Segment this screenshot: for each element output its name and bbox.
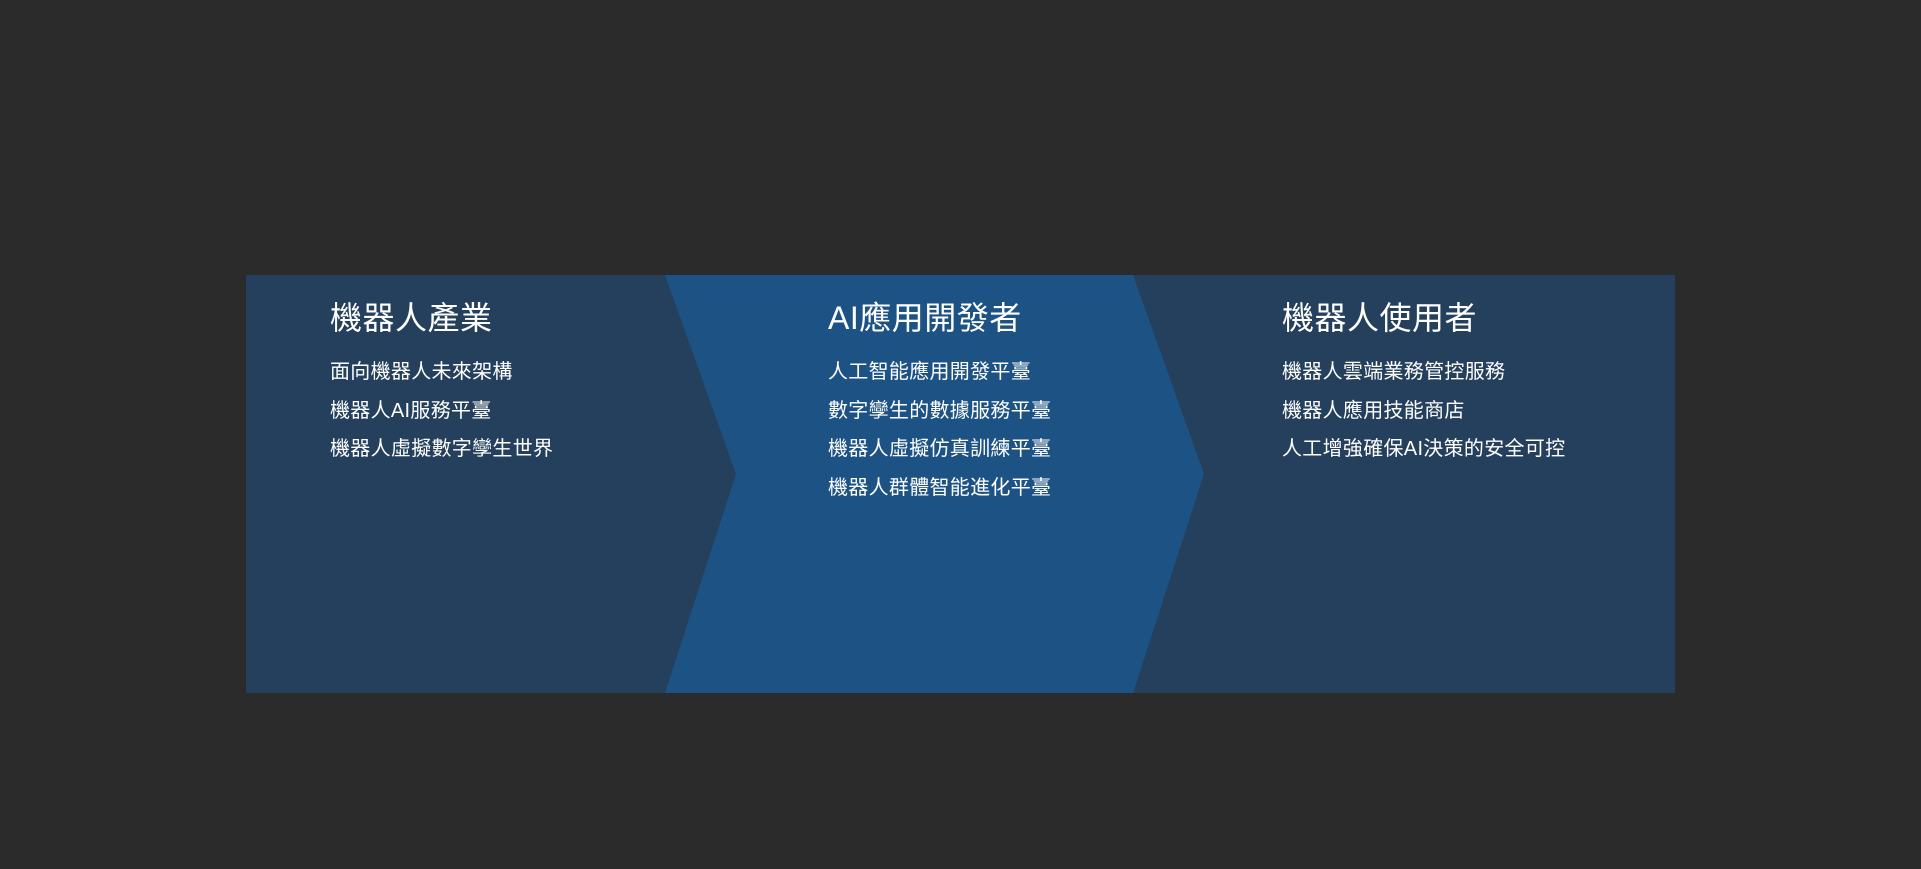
segment-item-list-robot-user: 機器人雲端業務管控服務 機器人應用技能商店 人工增強確保AI決策的安全可控 (1282, 356, 1565, 472)
list-item: 人工智能應用開發平臺 (828, 356, 1051, 388)
list-item: 機器人AI服務平臺 (330, 395, 553, 427)
segment-title-ai-app-developer: AI應用開發者 (828, 296, 1022, 340)
list-item: 機器人虛擬仿真訓練平臺 (828, 433, 1051, 465)
list-item: 機器人群體智能進化平臺 (828, 472, 1051, 504)
list-item: 數字孿生的數據服務平臺 (828, 395, 1051, 427)
slide-canvas: 機器人產業 面向機器人未來架構 機器人AI服務平臺 機器人虛擬數字孿生世界 AI… (0, 0, 1921, 869)
chevron-process-diagram: 機器人產業 面向機器人未來架構 機器人AI服務平臺 機器人虛擬數字孿生世界 AI… (246, 275, 1675, 693)
list-item: 機器人應用技能商店 (1282, 395, 1565, 427)
segment-item-list-ai-app-developer: 人工智能應用開發平臺 數字孿生的數據服務平臺 機器人虛擬仿真訓練平臺 機器人群體… (828, 356, 1051, 510)
segment-item-list-robot-industry: 面向機器人未來架構 機器人AI服務平臺 機器人虛擬數字孿生世界 (330, 356, 553, 472)
list-item: 機器人虛擬數字孿生世界 (330, 433, 553, 465)
list-item: 機器人雲端業務管控服務 (1282, 356, 1565, 388)
list-item: 面向機器人未來架構 (330, 356, 553, 388)
segment-title-robot-industry: 機器人產業 (330, 296, 493, 340)
segment-title-robot-user: 機器人使用者 (1282, 296, 1477, 340)
list-item: 人工增強確保AI決策的安全可控 (1282, 433, 1565, 465)
